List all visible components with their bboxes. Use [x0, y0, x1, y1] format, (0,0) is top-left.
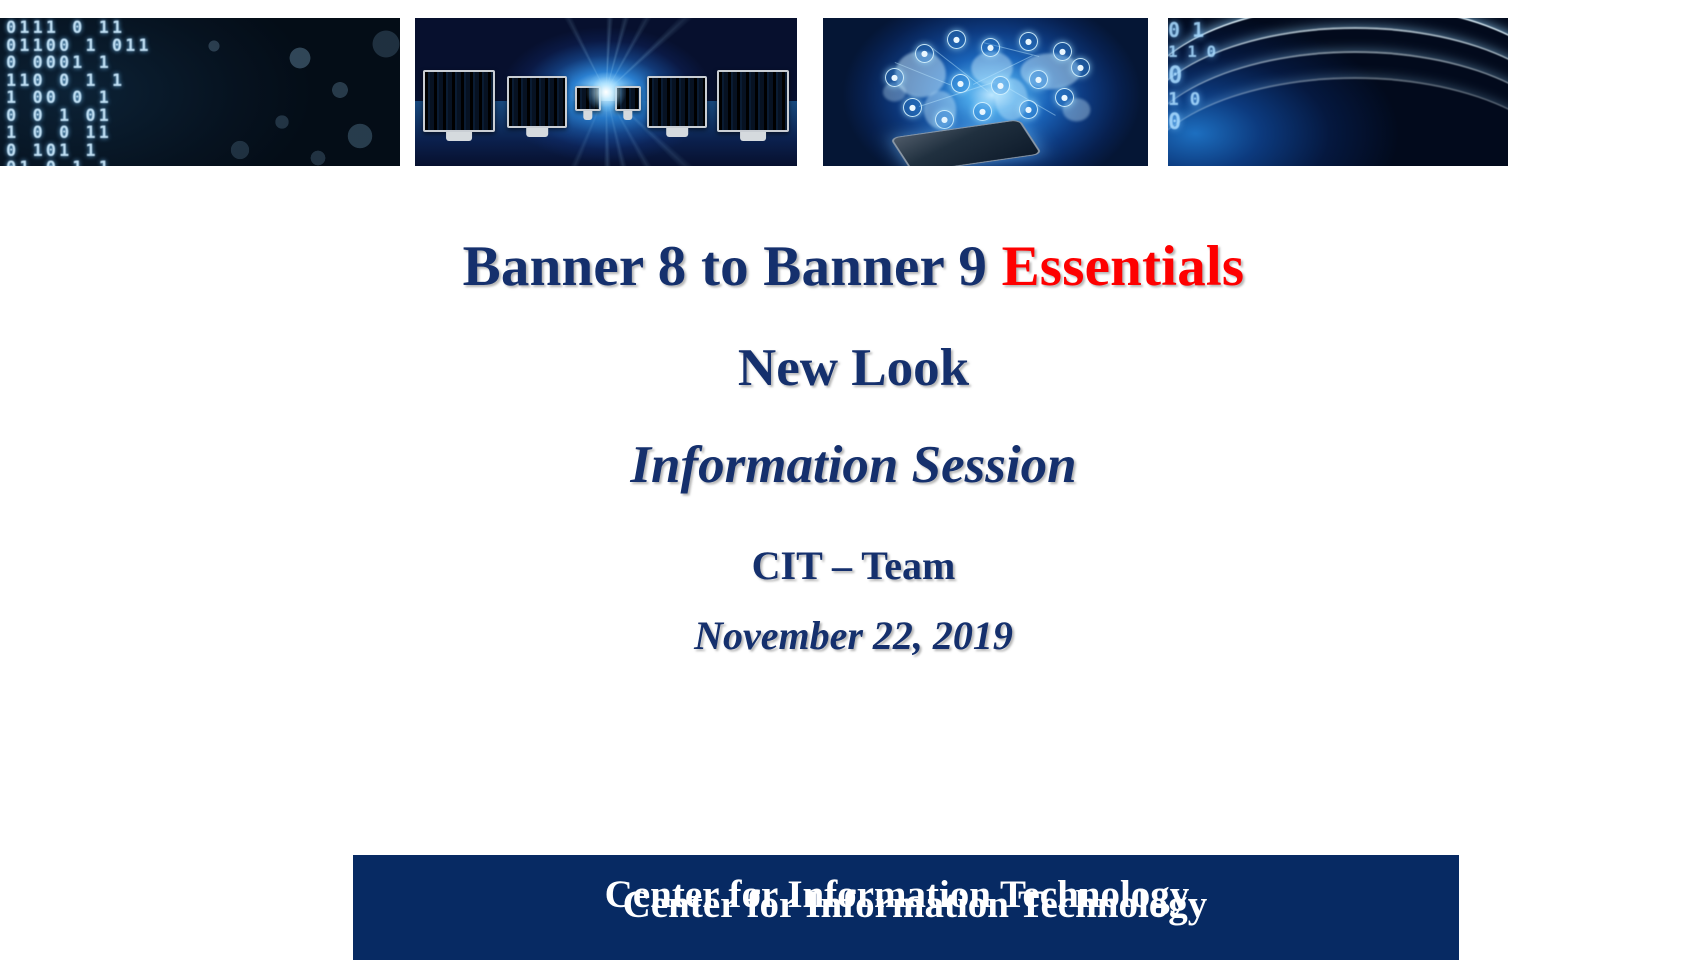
network-node-icon: ● [1071, 58, 1090, 77]
streak-digit: 0 [1168, 61, 1508, 89]
data-streaks-image: 0 1 1 1 0 0 1 0 0 [1168, 18, 1508, 166]
streak-digit: 0 [1168, 110, 1508, 135]
computer-monitors-image [415, 18, 797, 166]
network-node-icon: ● [1019, 100, 1038, 119]
network-node-icon: ● [903, 98, 922, 117]
footer-organization-name-duplicate: Center for Information Technology [362, 885, 1468, 924]
presentation-date: November 22, 2019 [0, 616, 1707, 656]
banner-image-strip: 0111 0 11 01100 1 011 0 0001 1 110 0 1 1… [0, 0, 1707, 185]
network-node-icon: ● [935, 110, 954, 129]
network-node-icon: ● [915, 44, 934, 63]
network-node-icon: ● [991, 76, 1010, 95]
page-title: Banner 8 to Banner 9 Essentials [0, 238, 1707, 295]
presenter-team: CIT – Team [0, 546, 1707, 586]
network-node-icon: ● [1055, 88, 1074, 107]
network-node-icon: ● [981, 38, 1000, 57]
network-node-icon: ● [885, 68, 904, 87]
subtitle-information-session: Information Session [0, 439, 1707, 492]
binary-code-bokeh [0, 18, 400, 166]
network-node-icon: ● [973, 102, 992, 121]
slide-title-block: Banner 8 to Banner 9 Essentials New Look… [0, 238, 1707, 656]
streak-digit: 1 1 0 [1168, 42, 1508, 61]
global-network-image: ● ● ● ● ● ● ● ● ● ● ● ● ● ● ● [823, 18, 1148, 166]
subtitle-new-look: New Look [0, 342, 1707, 395]
network-node-icon: ● [1019, 32, 1038, 51]
footer-banner-bar: Center for Information Technology Center… [353, 855, 1459, 960]
monitors-center-glow [415, 18, 797, 166]
network-node-icon: ● [951, 74, 970, 93]
title-main-accent: Essentials [1002, 235, 1245, 298]
binary-code-image: 0111 0 11 01100 1 011 0 0001 1 110 0 1 1… [0, 18, 400, 166]
network-node-icon: ● [947, 30, 966, 49]
title-main-prefix: Banner 8 to Banner 9 [463, 235, 1002, 298]
streak-digit: 0 1 [1168, 18, 1508, 42]
streak-digit: 1 0 [1168, 89, 1508, 110]
network-node-icon: ● [1053, 42, 1072, 61]
network-node-icon: ● [1029, 70, 1048, 89]
